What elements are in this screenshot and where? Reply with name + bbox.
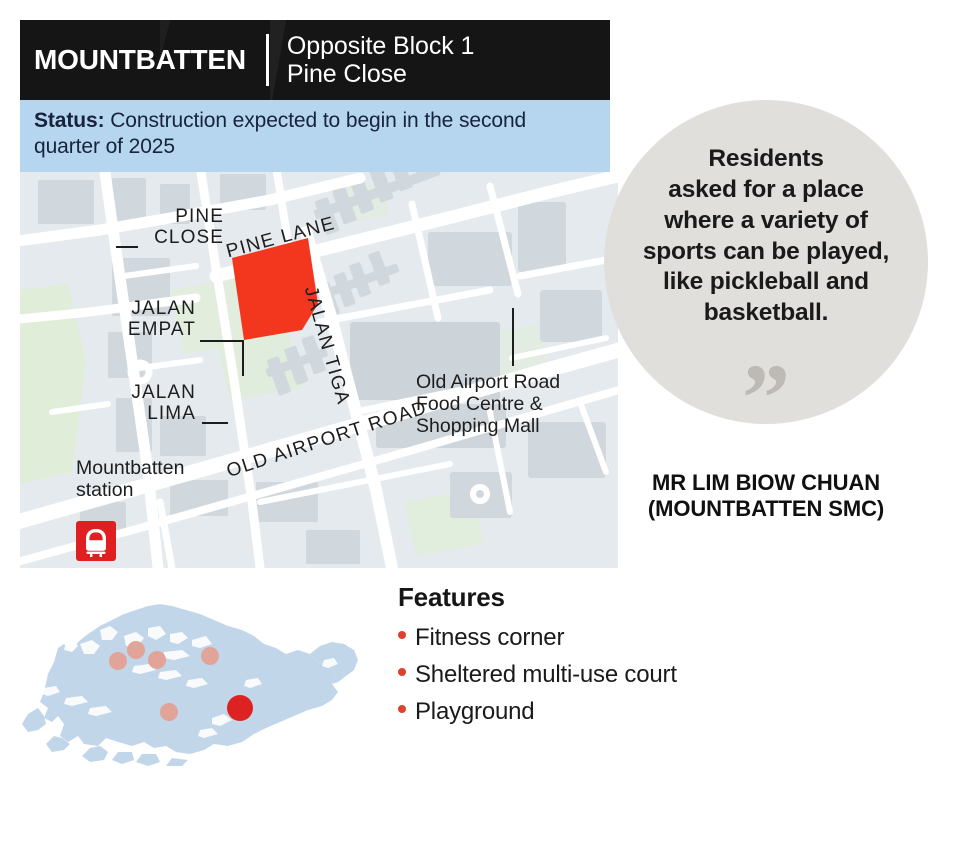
- detail-map[interactable]: PINE CLOSE PINE LANE JALAN TIGA JALAN EM…: [20, 172, 618, 568]
- quote-attribution-name: MR LIM BIOW CHUAN: [600, 470, 932, 496]
- quote-circle: Residents asked for a place where a vari…: [604, 100, 928, 424]
- feature-list-item: Playground: [398, 693, 818, 730]
- features-title: Features: [398, 582, 818, 613]
- map-label-food-centre-line3: Shopping Mall: [416, 416, 560, 438]
- header-bar: MOUNTBATTEN Opposite Block 1 Pine Close: [20, 20, 610, 100]
- status-band: Status: Construction expected to begin i…: [20, 100, 610, 172]
- quote-attribution: MR LIM BIOW CHUAN (MOUNTBATTEN SMC): [600, 470, 932, 523]
- mrt-train-icon[interactable]: [76, 521, 116, 561]
- map-label-jalan-lima-line2: LIMA: [86, 403, 196, 424]
- quote-attribution-constituency: (MOUNTBATTEN SMC): [600, 496, 932, 522]
- quote-line-1: Residents: [596, 144, 936, 175]
- header-location: Opposite Block 1 Pine Close: [287, 32, 474, 89]
- bullet-icon: [398, 631, 406, 639]
- feature-label: Sheltered multi-use court: [415, 656, 677, 693]
- bullet-icon: [398, 705, 406, 713]
- header-location-line2: Pine Close: [287, 60, 474, 88]
- closing-quote-icon: ”: [604, 350, 928, 446]
- singapore-locator-graphic: [14, 596, 364, 766]
- locator-dot-other-3: [148, 651, 166, 669]
- quote-text: Residents asked for a place where a vari…: [596, 144, 936, 329]
- quote-line-5: like pickleball and: [596, 267, 936, 298]
- feature-label: Playground: [415, 693, 534, 730]
- feature-list-item: Fitness corner: [398, 619, 818, 656]
- quote-line-2: asked for a place: [596, 175, 936, 206]
- quote-line-3: where a variety of: [596, 206, 936, 237]
- map-leader-food-centre: [512, 308, 514, 366]
- map-label-pine-close: PINE CLOSE: [132, 206, 224, 249]
- map-leader-jalan-empat-v: [242, 340, 244, 376]
- locator-dot-other-5: [160, 703, 178, 721]
- map-leader-pine-close: [116, 246, 138, 248]
- map-label-food-centre-line1: Old Airport Road: [416, 372, 560, 394]
- feature-label: Fitness corner: [415, 619, 564, 656]
- status-value: Construction expected to begin in the se…: [34, 109, 526, 158]
- locator-dot-mountbatten-active: [227, 695, 253, 721]
- map-label-food-centre-line2: Food Centre &: [416, 394, 560, 416]
- mrt-train-glyph: [76, 521, 116, 561]
- map-label-jalan-lima-line1: JALAN: [86, 382, 196, 403]
- locator-dot-other-4: [201, 647, 219, 665]
- bullet-icon: [398, 668, 406, 676]
- map-leader-jalan-empat-h: [200, 340, 244, 342]
- locator-dot-other-2: [127, 641, 145, 659]
- status-label: Status:: [34, 109, 104, 132]
- map-leader-jalan-lima: [202, 422, 228, 424]
- map-label-mountbatten-station-line2: station: [76, 480, 184, 502]
- features-section: Features Fitness corner Sheltered multi-…: [398, 582, 818, 731]
- header-location-line1: Opposite Block 1: [287, 32, 474, 60]
- map-label-mountbatten-station-line1: Mountbatten: [76, 458, 184, 480]
- map-label-jalan-empat-line2: EMPAT: [86, 319, 196, 340]
- quote-line-6: basketball.: [596, 298, 936, 329]
- map-label-pine-close-line1: PINE: [132, 206, 224, 227]
- vertical-divider-icon: [266, 34, 269, 86]
- singapore-locator-map: [14, 596, 364, 766]
- status-text: Status: Construction expected to begin i…: [34, 108, 596, 161]
- map-label-jalan-lima: JALAN LIMA: [86, 382, 196, 425]
- locator-dot-other-1: [109, 652, 127, 670]
- feature-list-item: Sheltered multi-use court: [398, 656, 818, 693]
- map-label-food-centre: Old Airport Road Food Centre & Shopping …: [416, 372, 560, 437]
- header-constituency-title: MOUNTBATTEN: [34, 44, 246, 76]
- map-label-jalan-empat-line1: JALAN: [86, 298, 196, 319]
- map-label-mountbatten-station: Mountbatten station: [76, 458, 184, 502]
- map-label-jalan-empat: JALAN EMPAT: [86, 298, 196, 341]
- map-label-pine-close-line2: CLOSE: [132, 227, 224, 248]
- quote-line-4: sports can be played,: [596, 237, 936, 268]
